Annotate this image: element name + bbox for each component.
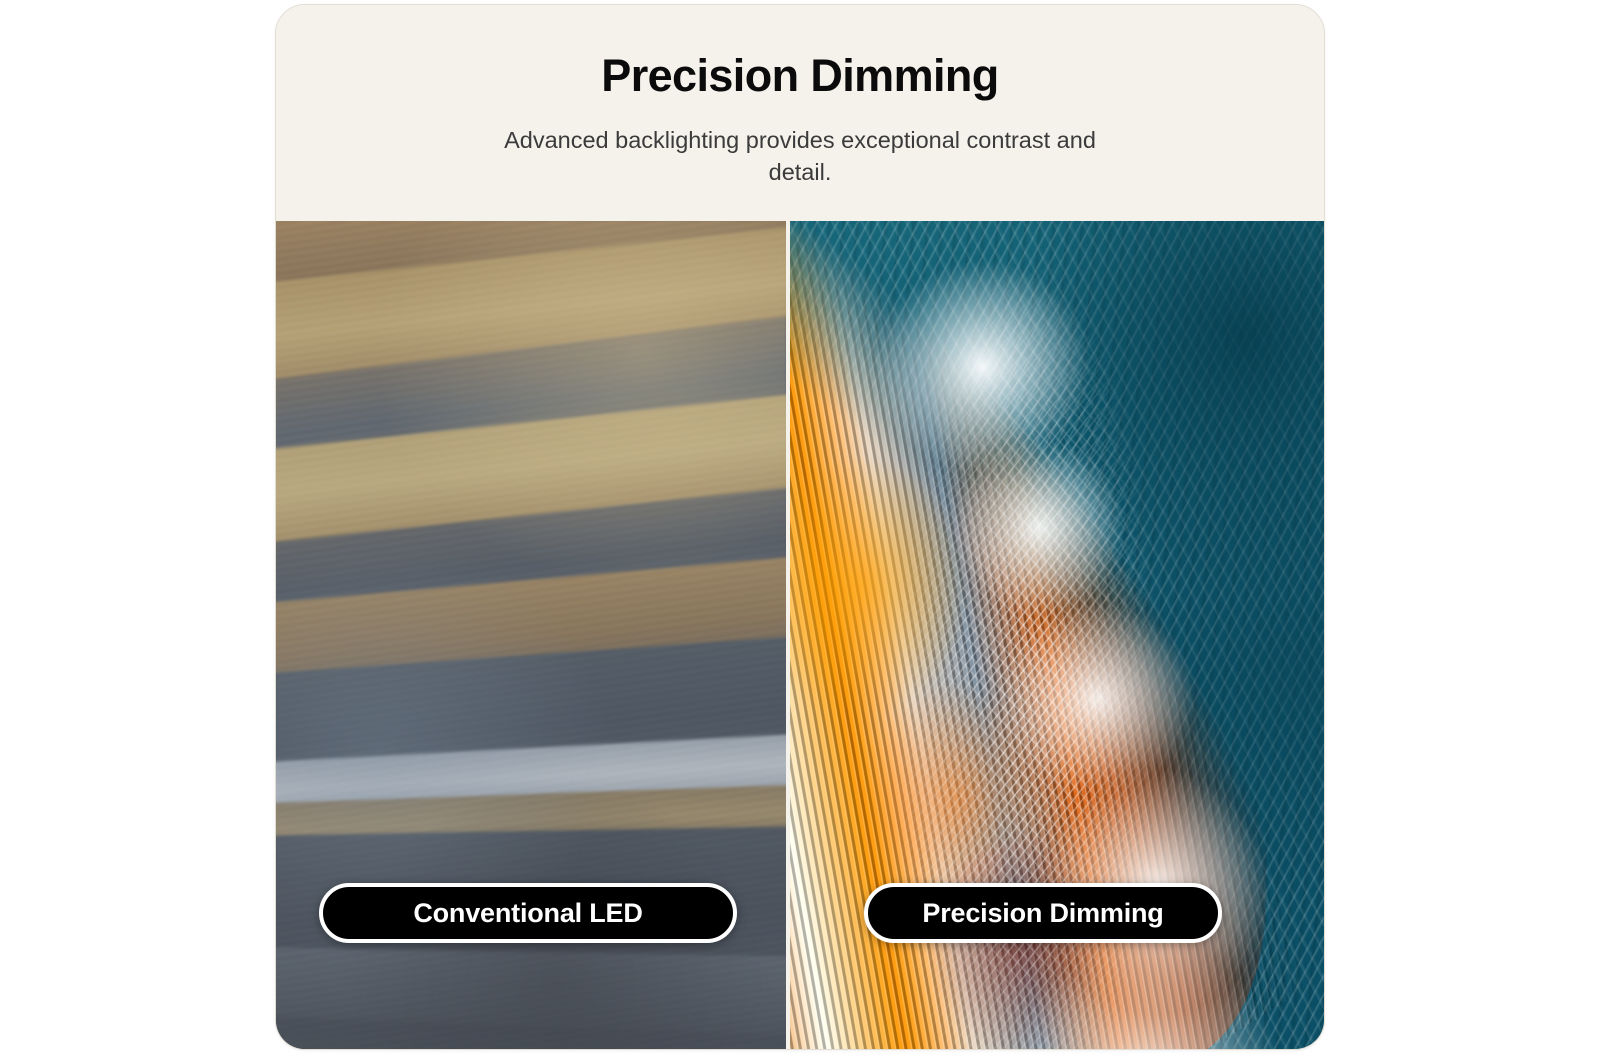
- page-title: Precision Dimming: [601, 53, 998, 98]
- comparison-divider: [786, 221, 790, 1050]
- conventional-led-badge: Conventional LED: [319, 883, 737, 943]
- card-header: Precision Dimming Advanced backlighting …: [276, 5, 1324, 221]
- precision-dimming-card: Precision Dimming Advanced backlighting …: [275, 4, 1325, 1050]
- conventional-led-badge-label: Conventional LED: [413, 900, 642, 927]
- card-subtitle: Advanced backlighting provides exception…: [490, 124, 1110, 189]
- comparison-viewer: Conventional LED Precision Dimming: [276, 221, 1325, 1050]
- screenshot-root: Precision Dimming Advanced backlighting …: [0, 0, 1600, 1062]
- comparison-panel-right: Precision Dimming: [786, 221, 1325, 1050]
- comparison-panel-left: Conventional LED: [276, 221, 786, 1050]
- precision-dimming-badge-label: Precision Dimming: [922, 900, 1163, 927]
- precision-dimming-badge: Precision Dimming: [864, 883, 1222, 943]
